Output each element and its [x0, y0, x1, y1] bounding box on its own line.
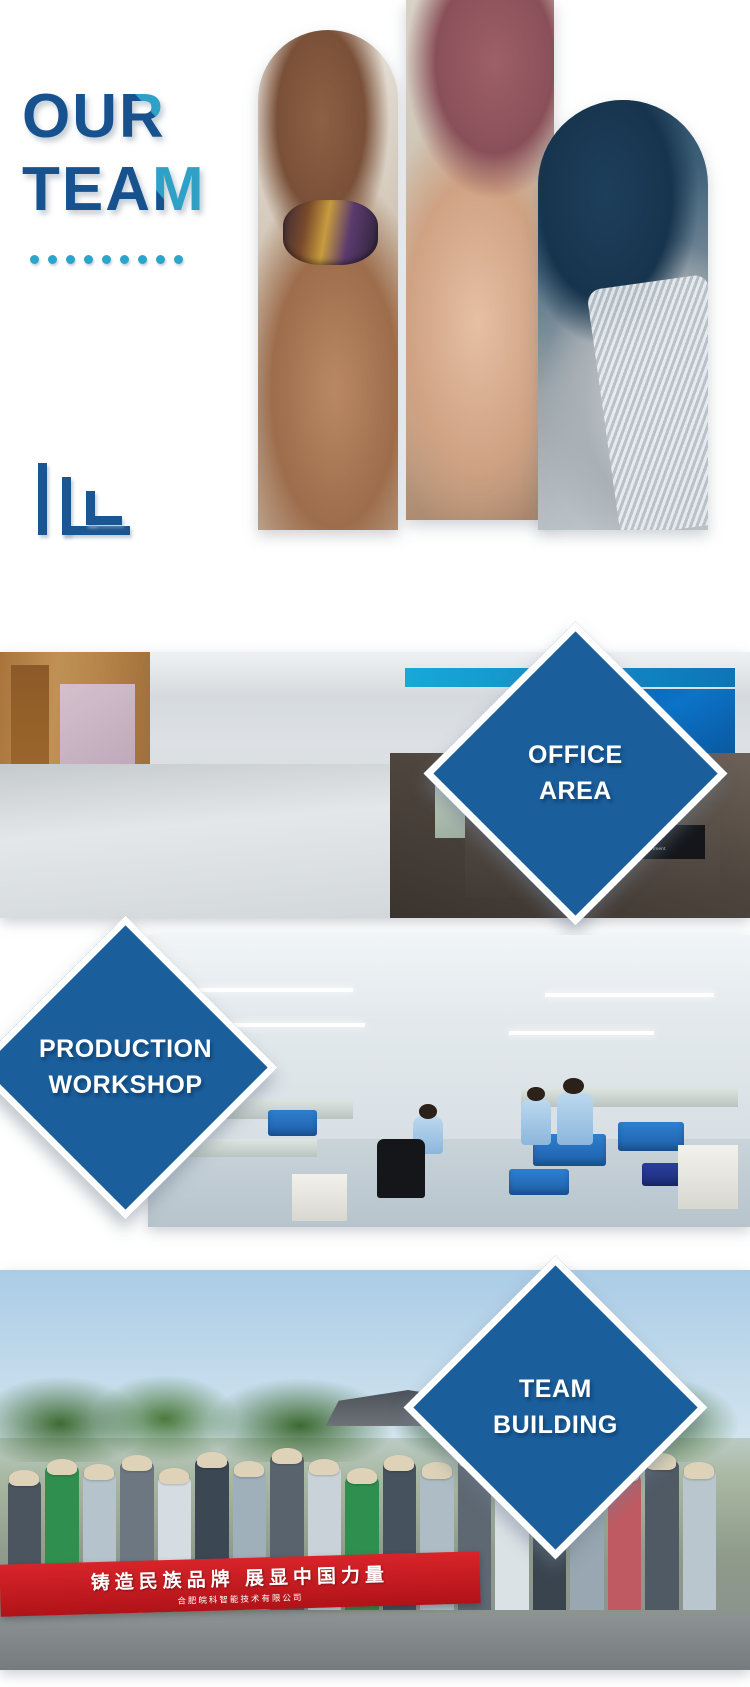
hero-section: OUR TEAM — [0, 0, 750, 600]
hands-stacked-panel-1 — [258, 30, 398, 530]
dot — [48, 255, 57, 264]
banner-slogan: 铸造民族品牌 展显中国力量 — [90, 1559, 389, 1594]
bracket-mid-horizontal — [62, 526, 130, 535]
dot — [84, 255, 93, 264]
parts-crate — [618, 1122, 684, 1151]
team-building-label: TEAM BUILDING — [493, 1372, 618, 1443]
bracket-outer-vertical — [38, 463, 47, 535]
dot — [30, 255, 39, 264]
corner-bracket-icon — [38, 455, 148, 535]
dot — [156, 255, 165, 264]
office-area-label: OFFICE AREA — [528, 738, 623, 809]
hands-stacked-panel-2 — [406, 0, 554, 520]
parts-crate — [268, 1110, 316, 1136]
decorative-dots — [30, 255, 183, 264]
hands-stacked-panel-3 — [538, 100, 708, 530]
bracket-inner-horizontal — [86, 516, 122, 525]
dot — [174, 255, 183, 264]
dot — [102, 255, 111, 264]
bracelet-detail — [283, 200, 378, 265]
parts-crate — [509, 1169, 569, 1195]
dot — [66, 255, 75, 264]
dot — [138, 255, 147, 264]
worker — [557, 1093, 593, 1146]
production-workshop-label: PRODUCTION WORKSHOP — [39, 1032, 212, 1103]
hero-photo-collage — [258, 0, 750, 560]
banner-company-name: 合肥皖科智能技术有限公司 — [177, 1591, 303, 1607]
dot — [120, 255, 129, 264]
worker — [521, 1099, 551, 1146]
